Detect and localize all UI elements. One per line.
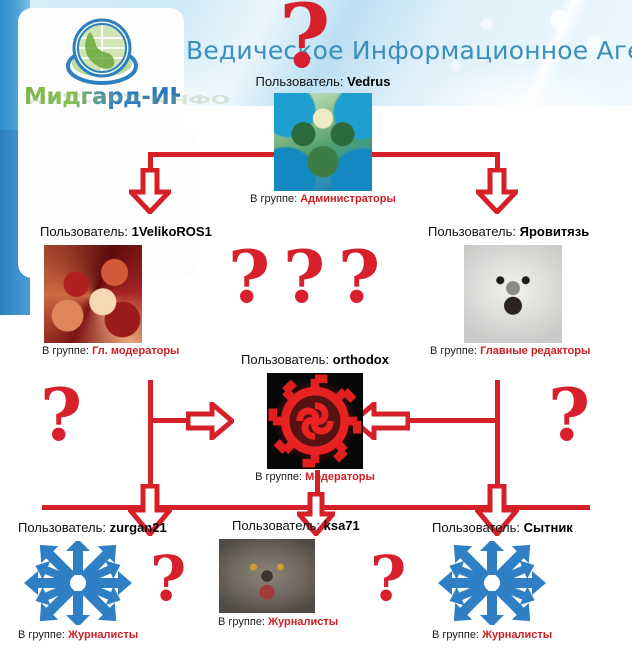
username: ksa71 bbox=[324, 518, 360, 533]
page-title: Ведическое Информационное Агентство bbox=[186, 36, 632, 65]
username: 1VelikoROS1 bbox=[132, 224, 212, 239]
group-prefix: В группе: bbox=[218, 616, 265, 628]
username: Сытник bbox=[524, 520, 573, 535]
user-prefix: Пользователь: bbox=[232, 518, 320, 533]
node-sytnik[interactable]: Пользователь: Сытник bbox=[432, 520, 632, 641]
node-ksa71-group-label: В группе: Журналисты bbox=[218, 616, 432, 628]
arrows-burst-icon bbox=[432, 541, 552, 625]
user-prefix: Пользователь: bbox=[241, 352, 329, 367]
node-yarovityaz-group-label: В группе: Главные редакторы bbox=[430, 345, 632, 357]
question-mark-top: ? bbox=[279, 0, 331, 77]
node-vedrus-user-label: Пользователь: Vedrus bbox=[238, 74, 408, 89]
group-prefix: В группе: bbox=[430, 345, 477, 357]
group-name: Журналисты bbox=[268, 616, 338, 628]
white-wolf-avatar[interactable] bbox=[464, 245, 562, 343]
group-name: Журналисты bbox=[68, 629, 138, 641]
question-mark-mid-3: ? bbox=[338, 244, 380, 310]
node-velikoros-user-label: Пользователь: 1VelikoROS1 bbox=[40, 224, 240, 239]
node-zurgan21[interactable]: Пользователь: zurgan21 bbox=[18, 520, 218, 641]
node-orthodox-user-label: Пользователь: orthodox bbox=[225, 352, 405, 367]
node-sytnik-group-label: В группе: Журналисты bbox=[432, 629, 632, 641]
group-prefix: В группе: bbox=[255, 471, 302, 483]
question-mark-mid-2: ? bbox=[283, 244, 325, 310]
journalists-arrows-avatar[interactable] bbox=[18, 541, 138, 625]
group-name: Главные редакторы bbox=[480, 345, 590, 357]
node-ksa71[interactable]: Пользователь: ksa71 В группе: Журналисты bbox=[232, 518, 432, 628]
username: Яровитязь bbox=[520, 224, 590, 239]
user-prefix: Пользователь: bbox=[40, 224, 128, 239]
group-prefix: В группе: bbox=[42, 345, 89, 357]
username: orthodox bbox=[333, 352, 389, 367]
arrow-down-to-velikoros bbox=[129, 168, 171, 214]
node-zurgan21-group-label: В группе: Журналисты bbox=[18, 629, 218, 641]
kolovrat-avatar[interactable] bbox=[267, 373, 363, 469]
node-orthodox[interactable]: Пользователь: orthodox bbox=[225, 352, 405, 483]
username: Vedrus bbox=[347, 74, 390, 89]
node-yarovityaz-user-label: Пользователь: Яровитязь bbox=[428, 224, 632, 239]
node-vedrus-group-label: В группе: Администраторы bbox=[238, 193, 408, 205]
banner-light-streak bbox=[400, 0, 632, 160]
globe-icon bbox=[66, 16, 138, 88]
diagram-canvas: Мидгард-ИНФО Мидгард-ИНФО Ведическое Инф… bbox=[0, 0, 632, 662]
node-velikoros-group-label: В группе: Гл. модераторы bbox=[42, 345, 240, 357]
question-mark-right: ? bbox=[548, 382, 590, 448]
group-name: Администраторы bbox=[300, 193, 396, 205]
connector-right-to-center bbox=[408, 418, 497, 423]
user-prefix: Пользователь: bbox=[18, 520, 106, 535]
node-yarovityaz[interactable]: Пользователь: Яровитязь В группе: Главны… bbox=[428, 224, 632, 357]
username: zurgan21 bbox=[110, 520, 167, 535]
journalists-arrows-avatar[interactable] bbox=[432, 541, 552, 625]
kolovrat-symbol-icon bbox=[267, 373, 363, 469]
node-vedrus[interactable]: Пользователь: Vedrus В группе: Администр… bbox=[238, 74, 408, 205]
group-prefix: В группе: bbox=[250, 193, 297, 205]
group-name: Журналисты bbox=[482, 629, 552, 641]
node-velikoros[interactable]: Пользователь: 1VelikoROS1 В группе: Гл. … bbox=[40, 224, 240, 357]
group-prefix: В группе: bbox=[18, 629, 65, 641]
group-prefix: В группе: bbox=[432, 629, 479, 641]
group-name: Гл. модераторы bbox=[92, 345, 179, 357]
node-ksa71-user-label: Пользователь: ksa71 bbox=[232, 518, 432, 533]
arrow-down-to-yarovityaz bbox=[476, 168, 518, 214]
site-logo[interactable]: Мидгард-ИНФО Мидгард-ИНФО bbox=[24, 12, 180, 116]
vedrus-face-avatar[interactable] bbox=[274, 93, 372, 191]
firebird-avatar[interactable] bbox=[44, 245, 142, 343]
grey-wolf-avatar[interactable] bbox=[219, 539, 315, 613]
node-zurgan21-user-label: Пользователь: zurgan21 bbox=[18, 520, 218, 535]
user-prefix: Пользователь: bbox=[428, 224, 516, 239]
user-prefix: Пользователь: bbox=[256, 74, 344, 89]
node-orthodox-group-label: В группе: Модераторы bbox=[225, 471, 405, 483]
node-sytnik-user-label: Пользователь: Сытник bbox=[432, 520, 632, 535]
group-name: Модераторы bbox=[305, 471, 375, 483]
logo-wordmark-reflection: Мидгард-ИНФО bbox=[24, 92, 180, 106]
question-mark-left: ? bbox=[40, 382, 82, 448]
user-prefix: Пользователь: bbox=[432, 520, 520, 535]
arrows-burst-icon bbox=[18, 541, 138, 625]
